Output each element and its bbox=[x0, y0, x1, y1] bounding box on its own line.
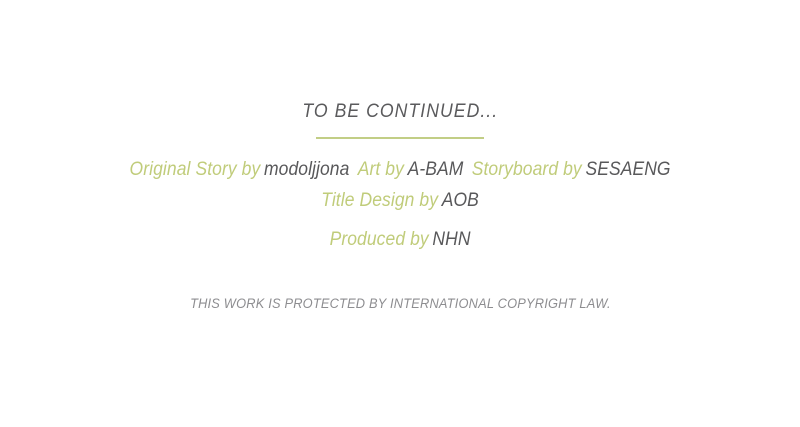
credit-line-title-design: Title Design byAOB bbox=[129, 191, 670, 210]
credit-name-title-design: AOB bbox=[442, 190, 479, 211]
credit-role-produced-by: Produced by bbox=[329, 229, 428, 250]
divider-rule bbox=[316, 137, 484, 139]
copyright-notice: THIS WORK IS PROTECTED BY INTERNATIONAL … bbox=[190, 296, 611, 311]
credit-name-original-story: modoljjona bbox=[264, 159, 349, 180]
credit-name-produced-by: NHN bbox=[432, 229, 470, 250]
credit-role-storyboard: Storyboard by bbox=[472, 159, 582, 180]
credit-line-produced-by: Produced byNHN bbox=[129, 230, 670, 249]
end-credits-card: TO BE CONTINUED... Original Story bymodo… bbox=[0, 0, 800, 427]
credits-block: Original Story bymodoljjonaArt byA-BAMSt… bbox=[106, 160, 694, 249]
to-be-continued-text: TO BE CONTINUED... bbox=[302, 101, 498, 123]
credit-role-original-story: Original Story by bbox=[129, 159, 260, 180]
credit-role-art: Art by bbox=[358, 159, 404, 180]
credit-line-main: Original Story bymodoljjonaArt byA-BAMSt… bbox=[129, 160, 670, 179]
credit-name-art: A-BAM bbox=[408, 159, 464, 180]
credit-role-title-design: Title Design by bbox=[321, 190, 438, 211]
credit-name-storyboard: SESAENG bbox=[585, 159, 670, 180]
